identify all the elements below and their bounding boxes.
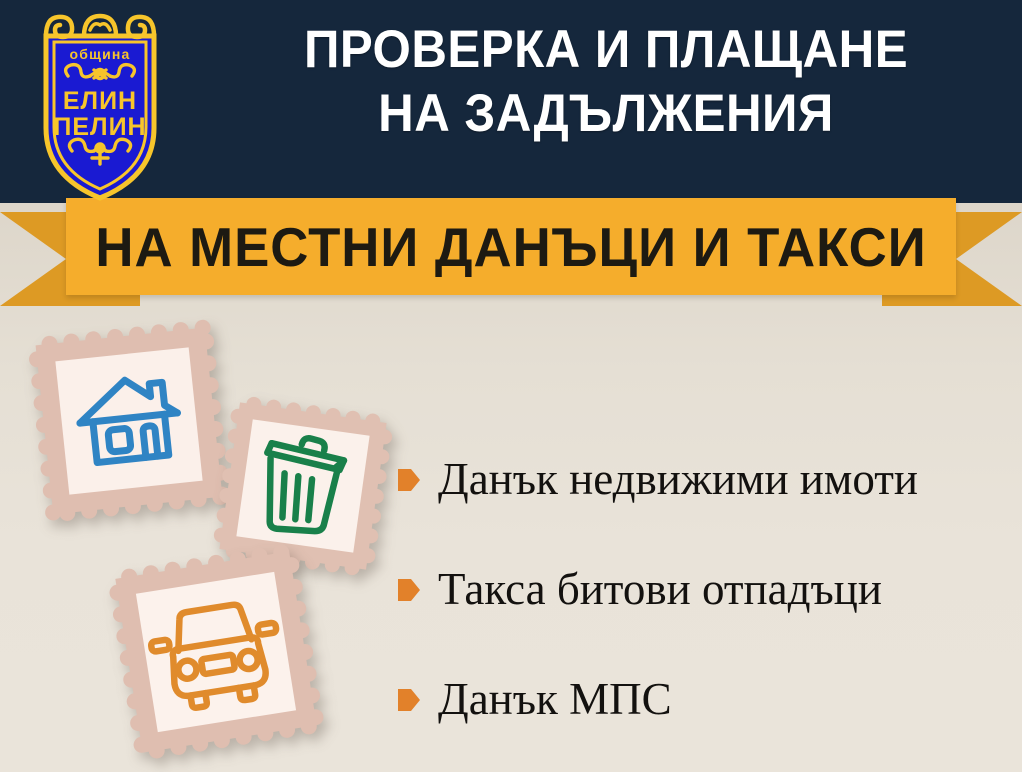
tax-type-list: Данък недвижими имоти Такса битови отпад… [398, 424, 1008, 754]
arrow-bullet-icon [398, 577, 420, 603]
list-item-label: Данък МПС [438, 674, 672, 724]
list-item[interactable]: Данък недвижими имоти [398, 424, 1008, 534]
ribbon-subtitle: НА МЕСТНИ ДАНЪЦИ И ТАКСИ [84, 198, 938, 295]
crest-name-line-1: ЕЛИН [63, 87, 137, 115]
stamp-card-car [96, 532, 336, 772]
ribbon-banner: НА МЕСТНИ ДАНЪЦИ И ТАКСИ [0, 198, 1022, 310]
list-item-label: Данък недвижими имоти [438, 454, 918, 504]
arrow-bullet-icon [398, 467, 420, 493]
list-item[interactable]: Такса битови отпадъци [398, 534, 1008, 644]
page-title: ПРОВЕРКА И ПЛАЩАНЕ НА ЗАДЪЛЖЕНИЯ [228, 18, 983, 146]
list-item-label: Такса битови отпадъци [438, 564, 882, 614]
crest-label-community: община [69, 46, 130, 62]
list-item[interactable]: Данък МПС [398, 644, 1008, 754]
municipality-crest-logo: община ЕЛИН ПЕЛИН [24, 8, 176, 204]
page-title-line-1: ПРОВЕРКА И ПЛАЩАНЕ [228, 18, 983, 82]
arrow-bullet-icon [398, 687, 420, 713]
crest-name-line-2: ПЕЛИН [53, 113, 146, 141]
page-title-line-2: НА ЗАДЪЛЖЕНИЯ [228, 82, 983, 146]
poster-canvas: ПРОВЕРКА И ПЛАЩАНЕ НА ЗАДЪЛЖЕНИЯ [0, 0, 1022, 772]
